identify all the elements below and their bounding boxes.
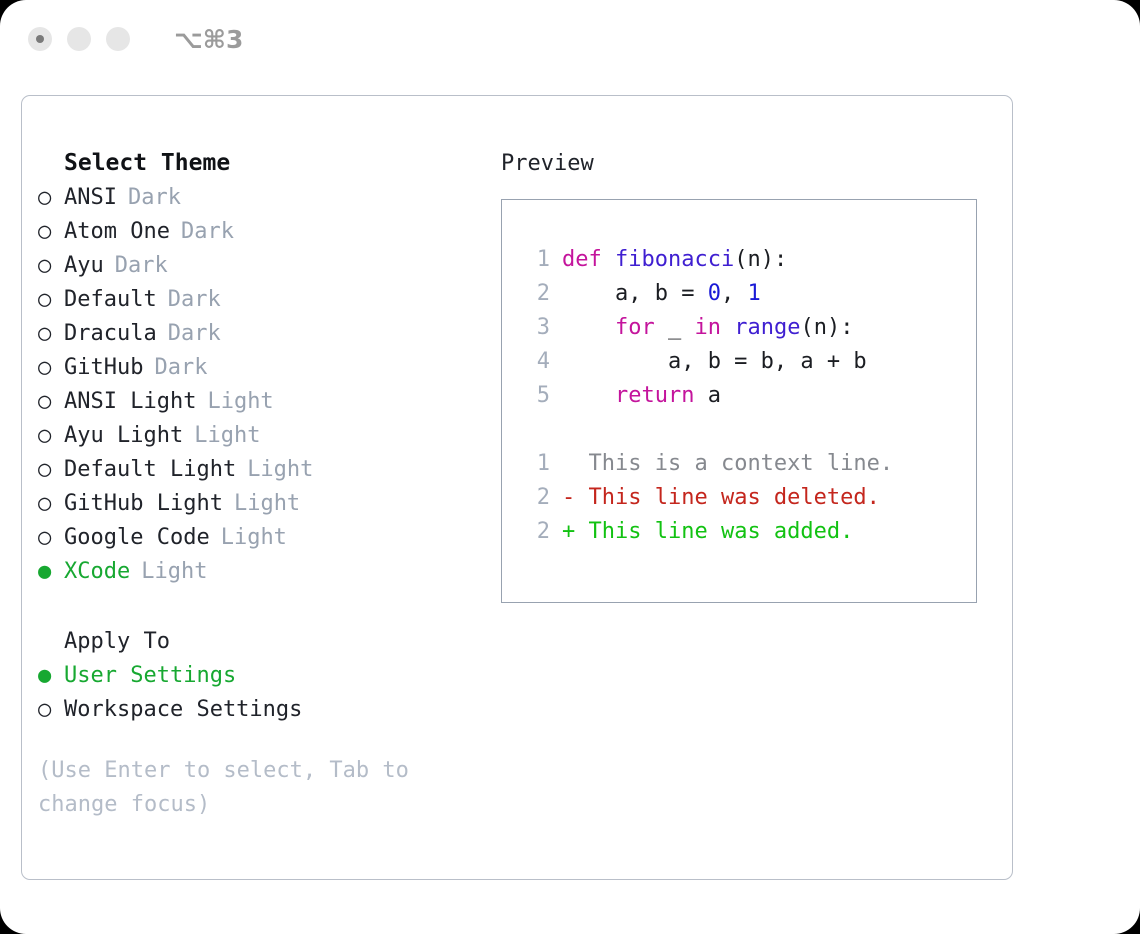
- theme-option-row[interactable]: ○ANSIDark: [38, 180, 478, 214]
- diff-sign: +: [562, 519, 589, 544]
- radio-unselected-icon[interactable]: ○: [38, 457, 64, 482]
- theme-name-label: Ayu Light: [64, 423, 183, 448]
- window-dot-third[interactable]: [106, 27, 130, 51]
- keyboard-hint-text: (Use Enter to select, Tab to change focu…: [38, 754, 458, 822]
- theme-variant-tag: Light: [207, 389, 273, 414]
- theme-option-row[interactable]: ○AyuDark: [38, 248, 478, 282]
- theme-variant-tag: Light: [247, 457, 313, 482]
- app-window: ⌥⌘3 > Select Theme ○ANSIDark○Atom OneDar…: [0, 0, 1140, 934]
- diff-line: 2- This line was deleted.: [520, 480, 976, 514]
- theme-name-label: Dracula: [64, 321, 157, 346]
- radio-selected-icon[interactable]: ●: [38, 663, 64, 688]
- code-token-txt: _: [655, 315, 695, 340]
- diff-line: 2+ This line was added.: [520, 514, 976, 548]
- theme-variant-tag: Dark: [181, 219, 234, 244]
- code-line: 3 for _ in range(n):: [520, 310, 976, 344]
- code-line: 5 return a: [520, 378, 976, 412]
- theme-name-label: XCode: [64, 559, 130, 584]
- theme-variant-tag: Dark: [168, 287, 221, 312]
- window-dot-second[interactable]: [67, 27, 91, 51]
- code-token-txt: a, b = b, a + b: [562, 349, 867, 374]
- theme-name-label: ANSI Light: [64, 389, 196, 414]
- keyboard-shortcut-label: ⌥⌘3: [174, 25, 243, 54]
- preview-panel: Preview 1def fibonacci(n):2 a, b = 0, 13…: [501, 146, 991, 603]
- title-bar: ⌥⌘3: [0, 0, 1140, 78]
- preview-heading: Preview: [501, 146, 991, 180]
- code-token-num: 0: [708, 281, 721, 306]
- code-line-number: 5: [520, 383, 550, 408]
- code-token-txt: [562, 315, 615, 340]
- code-line-number: 3: [520, 315, 550, 340]
- radio-unselected-icon[interactable]: ○: [38, 185, 64, 210]
- code-token-txt: a, b =: [562, 281, 708, 306]
- radio-unselected-icon[interactable]: ○: [38, 697, 64, 722]
- theme-option-row[interactable]: ○Google CodeLight: [38, 520, 478, 554]
- diff-sample: 1 This is a context line.2- This line wa…: [520, 446, 976, 548]
- apply-to-option-label: Workspace Settings: [64, 697, 302, 722]
- code-token-txt: (n):: [734, 247, 787, 272]
- code-token-txt: (n):: [800, 315, 853, 340]
- radio-unselected-icon[interactable]: ○: [38, 287, 64, 312]
- apply-to-label: Apply To: [64, 629, 170, 654]
- theme-option-row[interactable]: ○GitHubDark: [38, 350, 478, 384]
- heading-text: Select Theme: [64, 150, 230, 176]
- apply-to-marker-spacer: ○: [38, 629, 64, 654]
- code-token-kw: in: [694, 315, 721, 340]
- heading-prefix: >: [38, 151, 64, 176]
- theme-name-label: Default: [64, 287, 157, 312]
- code-token-txt: [562, 383, 615, 408]
- code-token-txt: a: [694, 383, 721, 408]
- theme-variant-tag: Dark: [154, 355, 207, 380]
- radio-unselected-icon[interactable]: ○: [38, 423, 64, 448]
- code-token-num: 1: [747, 281, 760, 306]
- apply-to-heading: ○Apply To: [38, 624, 478, 658]
- theme-option-row[interactable]: ○DefaultDark: [38, 282, 478, 316]
- diff-line-number: 2: [520, 485, 550, 510]
- theme-name-label: GitHub: [64, 355, 143, 380]
- theme-variant-tag: Light: [194, 423, 260, 448]
- apply-to-option-row[interactable]: ●User Settings: [38, 658, 478, 692]
- radio-unselected-icon[interactable]: ○: [38, 525, 64, 550]
- theme-name-label: Default Light: [64, 457, 236, 482]
- diff-line: 1 This is a context line.: [520, 446, 976, 480]
- theme-option-row[interactable]: ○GitHub LightLight: [38, 486, 478, 520]
- theme-name-label: Google Code: [64, 525, 210, 550]
- theme-variant-tag: Dark: [128, 185, 181, 210]
- theme-name-label: Ayu: [64, 253, 104, 278]
- theme-variant-tag: Light: [234, 491, 300, 516]
- code-token-fn: fibonacci: [615, 247, 734, 272]
- apply-to-option-list: ●User Settings○Workspace Settings: [38, 658, 478, 726]
- theme-variant-tag: Light: [221, 525, 287, 550]
- code-line: 2 a, b = 0, 1: [520, 276, 976, 310]
- theme-option-row[interactable]: ●XCodeLight: [38, 554, 478, 588]
- window-dot-active[interactable]: [28, 27, 52, 51]
- code-token-kw: for: [615, 315, 655, 340]
- code-sample: 1def fibonacci(n):2 a, b = 0, 13 for _ i…: [520, 242, 976, 412]
- radio-unselected-icon[interactable]: ○: [38, 491, 64, 516]
- code-token-kw: return: [615, 383, 694, 408]
- window-dot-active-inner: [36, 35, 44, 43]
- apply-to-option-row[interactable]: ○Workspace Settings: [38, 692, 478, 726]
- diff-text: This line was deleted.: [589, 485, 880, 510]
- theme-picker-dialog: > Select Theme ○ANSIDark○Atom OneDark○Ay…: [21, 95, 1013, 880]
- window-controls: [28, 27, 130, 51]
- radio-selected-icon[interactable]: ●: [38, 559, 64, 584]
- diff-sign: [562, 451, 589, 476]
- theme-list-panel: > Select Theme ○ANSIDark○Atom OneDark○Ay…: [38, 146, 478, 822]
- code-diff-spacer: [520, 412, 976, 446]
- apply-to-option-label: User Settings: [64, 663, 236, 688]
- theme-option-row[interactable]: ○Ayu LightLight: [38, 418, 478, 452]
- theme-name-label: ANSI: [64, 185, 117, 210]
- diff-line-number: 2: [520, 519, 550, 544]
- diff-line-number: 1: [520, 451, 550, 476]
- code-token-kw: def: [562, 247, 615, 272]
- theme-option-row[interactable]: ○Atom OneDark: [38, 214, 478, 248]
- code-line-number: 2: [520, 281, 550, 306]
- diff-text: This is a context line.: [589, 451, 894, 476]
- code-line: 1def fibonacci(n):: [520, 242, 976, 276]
- theme-name-label: Atom One: [64, 219, 170, 244]
- theme-option-row[interactable]: ○ANSI LightLight: [38, 384, 478, 418]
- preview-code-box: 1def fibonacci(n):2 a, b = 0, 13 for _ i…: [501, 199, 977, 603]
- code-line-number: 1: [520, 247, 550, 272]
- theme-option-row[interactable]: ○Default LightLight: [38, 452, 478, 486]
- theme-option-list: ○ANSIDark○Atom OneDark○AyuDark○DefaultDa…: [38, 180, 478, 588]
- diff-sign: -: [562, 485, 589, 510]
- radio-unselected-icon[interactable]: ○: [38, 355, 64, 380]
- theme-option-row[interactable]: ○DraculaDark: [38, 316, 478, 350]
- radio-unselected-icon[interactable]: ○: [38, 321, 64, 346]
- code-token-fn: range: [734, 315, 800, 340]
- radio-unselected-icon[interactable]: ○: [38, 253, 64, 278]
- radio-unselected-icon[interactable]: ○: [38, 219, 64, 244]
- code-line: 4 a, b = b, a + b: [520, 344, 976, 378]
- theme-variant-tag: Light: [141, 559, 207, 584]
- diff-text: This line was added.: [589, 519, 854, 544]
- radio-unselected-icon[interactable]: ○: [38, 389, 64, 414]
- select-theme-heading: > Select Theme: [38, 146, 478, 180]
- theme-name-label: GitHub Light: [64, 491, 223, 516]
- code-line-number: 4: [520, 349, 550, 374]
- code-token-txt: ,: [721, 281, 748, 306]
- theme-variant-tag: Dark: [168, 321, 221, 346]
- code-token-txt: [721, 315, 734, 340]
- theme-variant-tag: Dark: [115, 253, 168, 278]
